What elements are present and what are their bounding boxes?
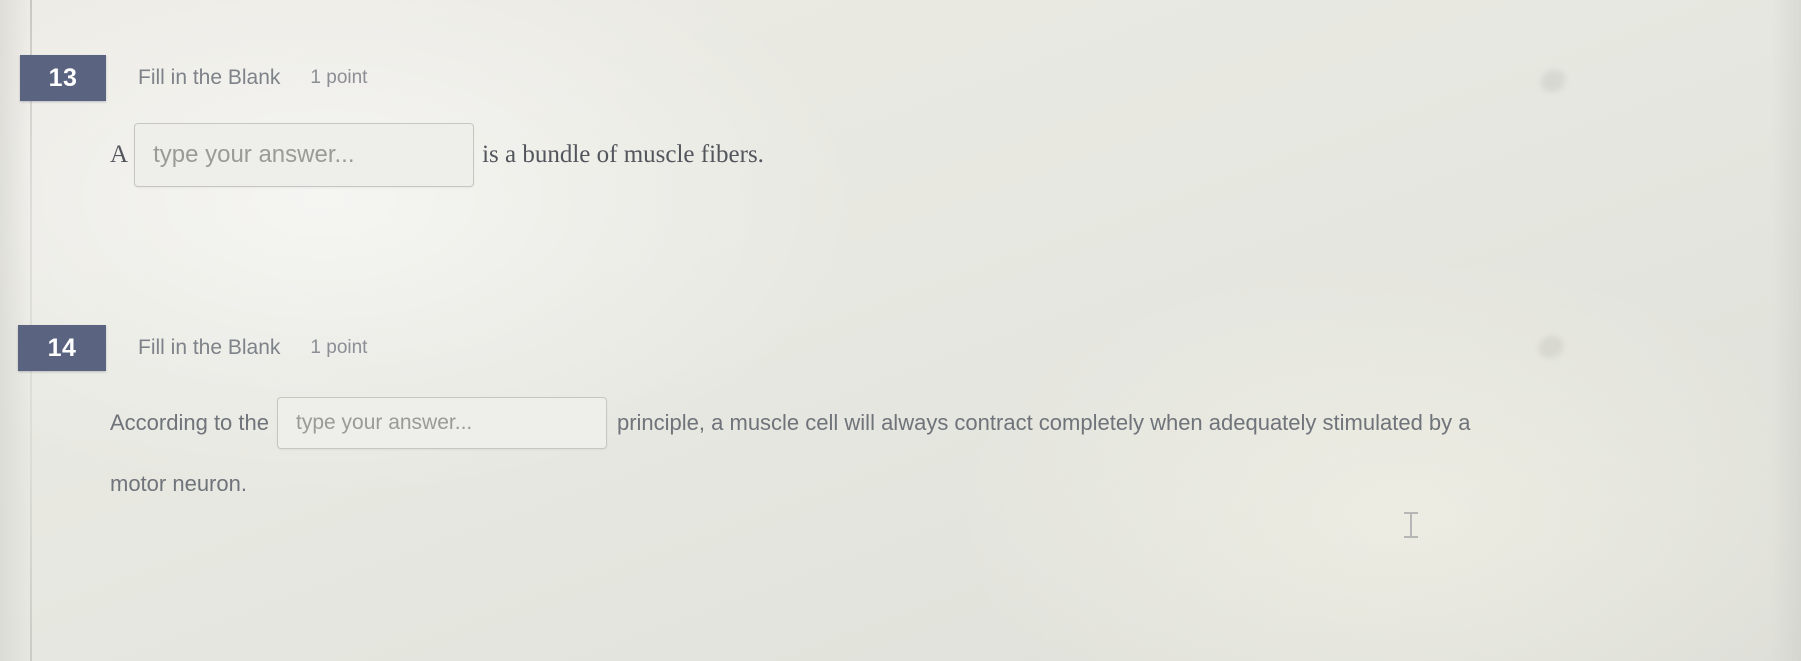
question-14-prompt-tail: principle, a muscle cell will always con… (617, 410, 1471, 436)
question-13-prompt-tail: is a bundle of muscle fibers. (482, 141, 764, 169)
question-13-prompt-lead: A (110, 141, 128, 169)
question-type-label-13: Fill in the Blank (138, 66, 280, 90)
question-points-label-14: 1 point (310, 337, 367, 359)
question-header-14: 14 Fill in the Blank 1 point (0, 325, 1801, 371)
answer-input-14[interactable]: type your answer... (277, 397, 607, 449)
quiz-content: 13 Fill in the Blank 1 point A type your… (0, 0, 1801, 661)
question-type-label-14: Fill in the Blank (138, 336, 280, 360)
answer-input-13[interactable]: type your answer... (134, 123, 474, 187)
question-header-13: 13 Fill in the Blank 1 point (0, 55, 1801, 101)
question-number-badge-14: 14 (18, 325, 106, 371)
text-ibeam-cursor (1404, 512, 1418, 538)
question-block-13: 13 Fill in the Blank 1 point A type your… (0, 55, 1801, 101)
question-14-prompt-lead: According to the (110, 410, 269, 436)
question-body-14: According to the type your answer... pri… (110, 397, 1793, 497)
question-number-badge-13: 13 (20, 55, 106, 101)
question-body-13: A type your answer... is a bundle of mus… (110, 123, 764, 187)
question-14-line-2: motor neuron. (110, 471, 1793, 497)
question-block-14: 14 Fill in the Blank 1 point According t… (0, 325, 1801, 371)
question-14-line-1: According to the type your answer... pri… (110, 397, 1793, 449)
question-points-label-13: 1 point (310, 67, 367, 89)
